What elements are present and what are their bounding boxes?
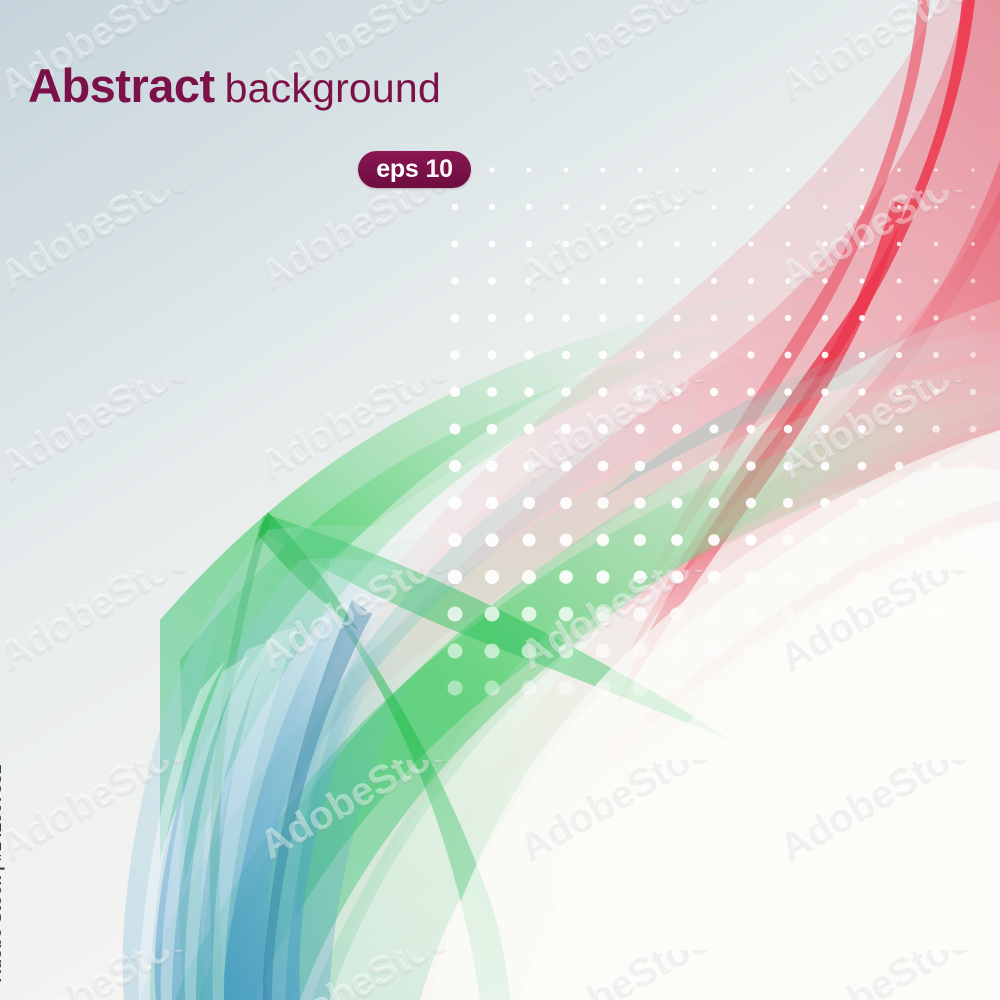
- grid-dot: [525, 277, 532, 284]
- grid-dot: [485, 533, 498, 546]
- grid-dot: [970, 315, 975, 320]
- grid-dot: [675, 168, 680, 173]
- grid-dot: [934, 168, 937, 171]
- grid-dot: [748, 315, 755, 322]
- grid-dot: [897, 242, 901, 246]
- grid-dot: [970, 389, 977, 396]
- grid-dot: [786, 168, 790, 172]
- grid-dot: [562, 277, 569, 284]
- grid-dot: [561, 387, 570, 396]
- grid-dot: [710, 351, 718, 359]
- grid-dot: [747, 351, 754, 358]
- grid-dot: [860, 242, 865, 247]
- grid-dot: [896, 352, 902, 358]
- grid-dot: [488, 277, 496, 285]
- grid-dot: [710, 388, 718, 396]
- grid-dot: [635, 461, 645, 471]
- grid-dot: [596, 570, 609, 583]
- adobe-stock-side-watermark: Adobe Stock | #142967881: [0, 765, 6, 982]
- grid-dot: [596, 607, 610, 621]
- grid-dot: [523, 497, 535, 509]
- grid-dot: [487, 350, 496, 359]
- grid-dot: [486, 497, 498, 509]
- grid-dot: [448, 607, 463, 622]
- grid-dot: [563, 167, 568, 172]
- grid-dot: [746, 461, 756, 471]
- grid-dot: [971, 168, 974, 171]
- grid-dot: [449, 423, 460, 434]
- grid-dot: [858, 462, 867, 471]
- grid-dot: [598, 461, 609, 472]
- grid-dot: [860, 168, 864, 172]
- grid-dot: [637, 278, 644, 285]
- grid-dot: [820, 461, 829, 470]
- abstract-background-canvas: AdobeStock AdobeStock Abstractbackground…: [0, 0, 1000, 1000]
- grid-dot: [822, 315, 828, 321]
- grid-dot: [746, 498, 756, 508]
- grid-dot: [822, 352, 829, 359]
- grid-dot: [489, 167, 495, 173]
- grid-dot: [448, 681, 463, 696]
- grid-dot: [485, 570, 499, 584]
- grid-dot: [786, 205, 790, 209]
- grid-dot: [599, 351, 607, 359]
- grid-dot: [971, 242, 975, 246]
- grid-dot: [560, 497, 572, 509]
- grid-dot: [821, 388, 829, 396]
- headline-light-word: background: [225, 65, 441, 111]
- grid-dot: [638, 168, 643, 173]
- grid-dot: [712, 168, 716, 172]
- grid-dot: [559, 607, 573, 621]
- grid-dot: [859, 352, 866, 359]
- grid-dot: [599, 314, 607, 322]
- grid-dot: [933, 389, 940, 396]
- grid-dot: [636, 351, 644, 359]
- grid-dot: [560, 534, 573, 547]
- grid-dot: [821, 425, 829, 433]
- grid-dot: [783, 461, 792, 470]
- grid-dot: [971, 205, 975, 209]
- grid-dot: [709, 498, 720, 509]
- grid-dot: [489, 204, 495, 210]
- grid-dot: [747, 388, 755, 396]
- grid-dot: [561, 424, 571, 434]
- grid-dot: [673, 351, 681, 359]
- grid-dot: [708, 534, 720, 546]
- grid-dot: [562, 351, 571, 360]
- grid-dot: [563, 241, 569, 247]
- eps-version-badge: eps 10: [358, 151, 471, 188]
- grid-dot: [822, 278, 827, 283]
- grid-dot: [636, 388, 645, 397]
- headline: Abstractbackground: [28, 62, 441, 109]
- grid-dot: [934, 242, 938, 246]
- grid-dot: [523, 460, 534, 471]
- grid-dot: [451, 277, 459, 285]
- grid-dot: [526, 204, 532, 210]
- grid-dot: [637, 241, 643, 247]
- grid-dot: [709, 424, 718, 433]
- grid-dot: [524, 387, 534, 397]
- grid-dot: [745, 534, 756, 545]
- grid-dot: [522, 533, 535, 546]
- eps-badge-label: eps: [376, 157, 418, 182]
- grid-dot: [711, 241, 717, 247]
- grid-dot: [859, 278, 864, 283]
- grid-dot: [897, 168, 900, 171]
- grid-dot: [672, 424, 681, 433]
- grid-dot: [933, 352, 939, 358]
- grid-dot: [747, 425, 756, 434]
- grid-dot: [451, 240, 458, 247]
- grid-dot: [525, 351, 534, 360]
- grid-dot: [823, 168, 827, 172]
- grid-dot: [674, 241, 680, 247]
- grid-dot: [785, 278, 791, 284]
- grid-dot: [784, 425, 793, 434]
- grid-dot: [934, 279, 939, 284]
- grid-dot: [452, 204, 459, 211]
- grid-dot: [634, 571, 647, 584]
- grid-dot: [672, 461, 682, 471]
- grid-dot: [711, 278, 717, 284]
- grid-dot: [522, 607, 537, 622]
- grid-dot: [671, 534, 683, 546]
- grid-dot: [673, 388, 682, 397]
- grid-dot: [933, 315, 938, 320]
- grid-dot: [748, 241, 753, 246]
- grid-dot: [749, 205, 754, 210]
- grid-dot: [522, 681, 537, 696]
- grid-dot: [784, 351, 791, 358]
- grid-dot: [674, 204, 679, 209]
- grid-dot: [895, 425, 903, 433]
- grid-dot: [598, 387, 607, 396]
- grid-dot: [526, 167, 531, 172]
- grid-dot: [860, 205, 864, 209]
- grid-dot: [485, 681, 500, 696]
- grid-dot: [785, 241, 790, 246]
- headline-bold-word: Abstract: [28, 59, 215, 112]
- grid-dot: [485, 607, 500, 622]
- grid-dot: [600, 278, 607, 285]
- grid-dot: [488, 314, 496, 322]
- grid-dot: [634, 497, 645, 508]
- grid-dot: [525, 314, 533, 322]
- grid-dot: [600, 241, 606, 247]
- grid-dot: [560, 460, 571, 471]
- grid-dot: [596, 644, 611, 659]
- grid-dot: [450, 350, 459, 359]
- grid-dot: [485, 644, 500, 659]
- grid-dot: [672, 498, 683, 509]
- grid-dot: [673, 314, 680, 321]
- grid-dot: [712, 205, 717, 210]
- grid-dot: [823, 205, 827, 209]
- grid-dot: [524, 424, 535, 435]
- eps-badge-version: 10: [425, 157, 452, 182]
- grid-dot: [451, 314, 460, 323]
- grid-dot: [450, 387, 460, 397]
- grid-dot: [749, 168, 753, 172]
- grid-dot: [709, 461, 719, 471]
- grid-dot: [896, 315, 902, 321]
- grid-dot: [748, 278, 754, 284]
- grid-dot: [896, 278, 901, 283]
- grid-dot: [783, 498, 793, 508]
- grid-dot: [785, 315, 791, 321]
- grid-dot: [858, 425, 866, 433]
- grid-dot: [634, 534, 646, 546]
- wave-artwork: [0, 0, 1000, 1000]
- grid-dot: [671, 571, 684, 584]
- grid-dot: [674, 278, 680, 284]
- grid-dot: [487, 424, 498, 435]
- grid-dot: [932, 425, 940, 433]
- grid-dot: [448, 644, 463, 659]
- grid-dot: [858, 388, 865, 395]
- grid-dot: [486, 460, 498, 472]
- grid-dot: [489, 241, 496, 248]
- grid-dot: [601, 168, 606, 173]
- grid-dot: [449, 460, 461, 472]
- grid-dot: [562, 314, 570, 322]
- grid-dot: [895, 388, 902, 395]
- grid-dot: [487, 387, 497, 397]
- grid-dot: [563, 204, 569, 210]
- grid-dot: [636, 314, 643, 321]
- grid-dot: [559, 644, 574, 659]
- grid-dot: [897, 205, 901, 209]
- grid-dot: [711, 315, 718, 322]
- grid-dot: [859, 315, 865, 321]
- grid-dot: [784, 388, 792, 396]
- grid-dot: [522, 644, 537, 659]
- grid-dot: [635, 424, 645, 434]
- grid-dot: [522, 570, 536, 584]
- grid-dot: [971, 279, 976, 284]
- grid-dot: [448, 570, 463, 585]
- grid-dot: [597, 497, 609, 509]
- grid-dot: [637, 204, 642, 209]
- grid-dot: [598, 424, 608, 434]
- grid-dot: [600, 204, 606, 210]
- grid-dot: [934, 205, 938, 209]
- grid-dot: [970, 352, 976, 358]
- grid-dot: [449, 497, 462, 510]
- grid-dot: [597, 534, 609, 546]
- grid-dot: [633, 607, 647, 621]
- grid-dot: [559, 570, 573, 584]
- grid-dot: [526, 241, 533, 248]
- grid-dot: [823, 242, 828, 247]
- grid-dot: [559, 681, 574, 696]
- grid-dot: [448, 533, 462, 547]
- grid-dot: [969, 425, 976, 432]
